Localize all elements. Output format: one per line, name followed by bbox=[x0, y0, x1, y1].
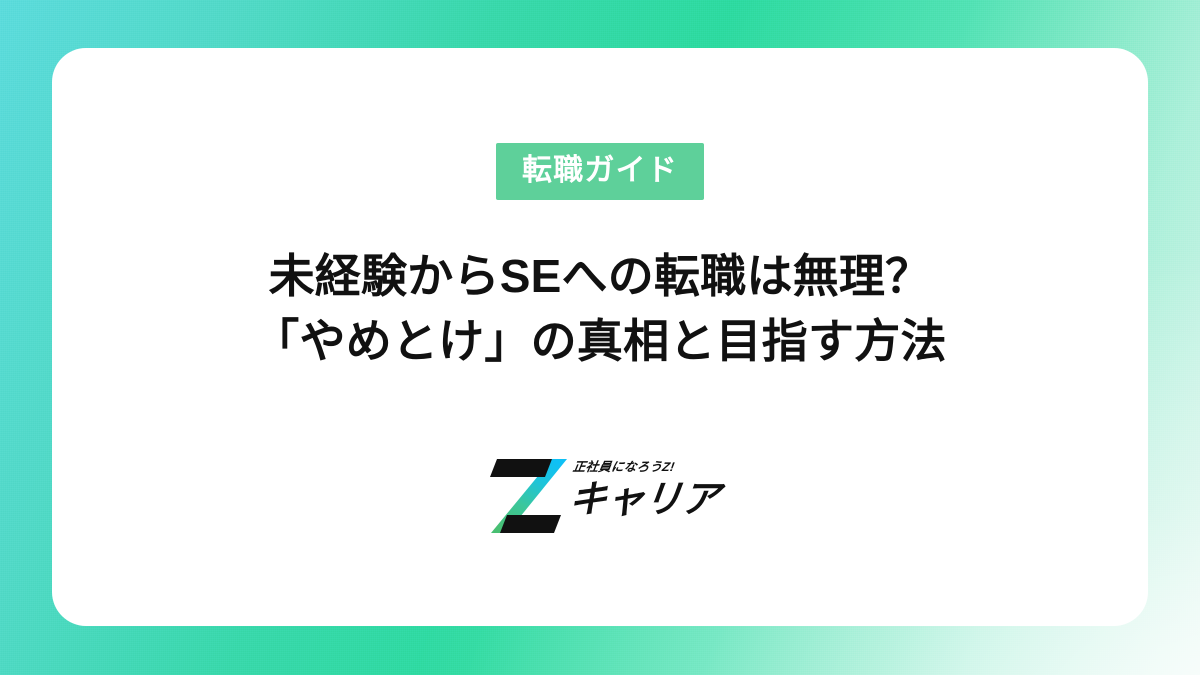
content-card: 転職ガイド 未経験からSEへの転職は無理？ 「やめとけ」の真相と目指す方法 bbox=[52, 48, 1148, 626]
brand-logo: 正社員になろうZ! キャリア bbox=[481, 457, 719, 535]
category-badge: 転職ガイド bbox=[496, 143, 704, 200]
z-mark-icon bbox=[481, 457, 567, 535]
page-title-line-1: 未経験からSEへの転職は無理？ bbox=[253, 244, 946, 309]
logo-wordmark: キャリア bbox=[567, 481, 721, 519]
logo-tagline: 正社員になろうZ! bbox=[572, 461, 720, 474]
page-title: 未経験からSEへの転職は無理？ 「やめとけ」の真相と目指す方法 bbox=[253, 244, 946, 375]
page-title-line-2: 「やめとけ」の真相と目指す方法 bbox=[253, 309, 946, 374]
logo-wordmark-group: 正社員になろうZ! キャリア bbox=[569, 457, 719, 519]
ogp-canvas: 転職ガイド 未経験からSEへの転職は無理？ 「やめとけ」の真相と目指す方法 bbox=[0, 0, 1200, 675]
